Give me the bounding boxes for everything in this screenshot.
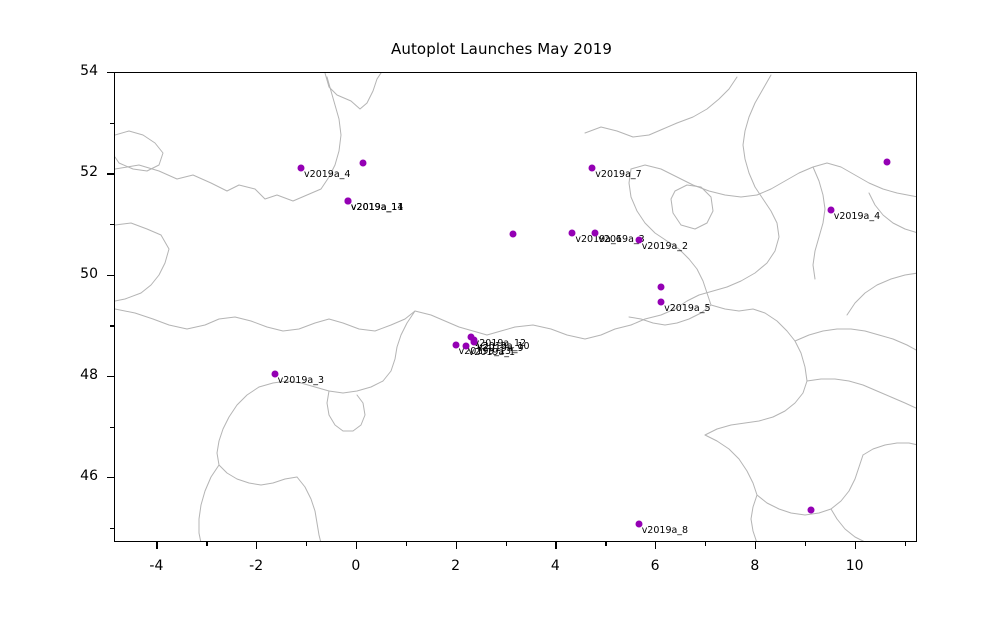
x-tick-minor — [905, 542, 906, 546]
y-tick-major — [107, 72, 114, 73]
point-label: ᴠ2019a_1 — [469, 347, 515, 358]
x-tick-minor — [506, 542, 507, 546]
data-point — [807, 506, 814, 513]
x-tick-major — [855, 542, 856, 549]
y-tick-label: 48 — [38, 367, 98, 383]
y-tick-major — [107, 173, 114, 174]
x-tick-major — [456, 542, 457, 549]
point-label: ᴠ2019a_7 — [595, 169, 641, 180]
y-tick-major — [107, 477, 114, 478]
point-label: ᴠ2019a_8 — [642, 525, 688, 536]
point-label: ᴠ2019a_4 — [834, 211, 880, 222]
y-tick-minor — [110, 325, 114, 326]
x-tick-label: 2 — [426, 558, 486, 574]
x-tick-label: 10 — [825, 558, 885, 574]
y-tick-minor — [110, 427, 114, 428]
point-label: ᴠ2019a_1 — [351, 202, 397, 213]
point-label: ᴠ2019a_5 — [664, 303, 710, 314]
y-tick-minor — [110, 528, 114, 529]
y-tick-label: 46 — [38, 468, 98, 484]
y-tick-minor — [110, 224, 114, 225]
x-tick-major — [755, 542, 756, 549]
y-tick-major — [107, 376, 114, 377]
x-tick-minor — [306, 542, 307, 546]
y-tick-minor — [110, 123, 114, 124]
x-tick-label: 6 — [625, 558, 685, 574]
chart-title: Autoplot Launches May 2019 — [0, 40, 1003, 58]
x-tick-label: 0 — [326, 558, 386, 574]
point-label: ᴠ2019a_3 — [278, 375, 324, 386]
plot-area: ᴠ2019a_4ᴠ2019a_14ᴠ2019a_11ᴠ2019a_1ᴠ2019a… — [114, 72, 917, 542]
x-tick-major — [555, 542, 556, 549]
data-point — [509, 231, 516, 238]
x-tick-label: -2 — [226, 558, 286, 574]
y-tick-label: 52 — [38, 164, 98, 180]
x-tick-minor — [406, 542, 407, 546]
x-tick-minor — [805, 542, 806, 546]
y-tick-label: 50 — [38, 266, 98, 282]
x-tick-major — [356, 542, 357, 549]
x-tick-minor — [605, 542, 606, 546]
y-tick-major — [107, 275, 114, 276]
x-tick-minor — [206, 542, 207, 546]
data-point — [359, 160, 366, 167]
point-label: ᴠ2019a_2 — [642, 241, 688, 252]
x-tick-label: 8 — [725, 558, 785, 574]
x-tick-major — [655, 542, 656, 549]
y-tick-label: 54 — [38, 63, 98, 79]
x-tick-minor — [705, 542, 706, 546]
x-tick-label: -4 — [126, 558, 186, 574]
data-point — [658, 283, 665, 290]
point-label: ᴠ2019a_4 — [304, 169, 350, 180]
figure: Autoplot Launches May 2019 — [0, 0, 1003, 633]
data-point — [883, 158, 890, 165]
coastline-layer — [115, 73, 917, 542]
x-tick-label: 4 — [525, 558, 585, 574]
x-tick-major — [256, 542, 257, 549]
x-tick-major — [156, 542, 157, 549]
